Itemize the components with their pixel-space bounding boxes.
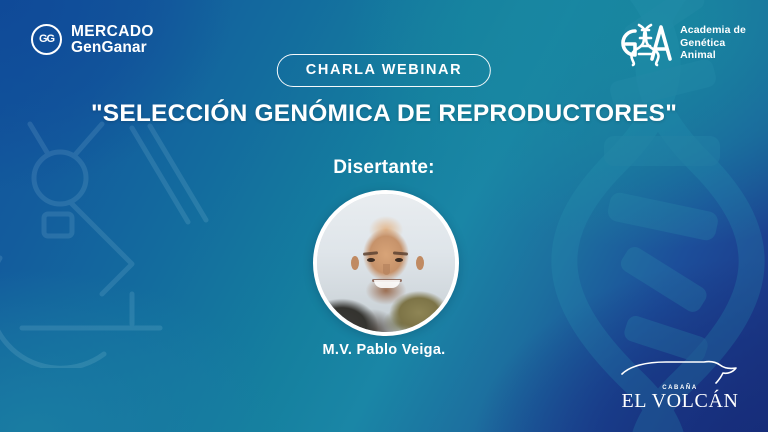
portrait-brow-right xyxy=(393,251,408,255)
webinar-slide: GG MERCADO GenGanar xyxy=(0,0,768,432)
gg-monogram-text: GG xyxy=(39,34,54,45)
speaker-section-label: Disertante: xyxy=(0,157,768,179)
brand-mercado-genganar-wordmark: MERCADO GenGanar xyxy=(71,24,154,56)
brand-academia-wordmark: Academia de Genética Animal xyxy=(680,24,746,62)
bull-silhouette-icon xyxy=(620,360,740,386)
microscope-icon xyxy=(0,118,222,368)
brand-mercado-genganar[interactable]: GG MERCADO GenGanar xyxy=(31,24,154,56)
brand-right-line1: Academia de xyxy=(680,24,746,37)
brand-academia-genetica-animal[interactable]: Academia de Genética Animal xyxy=(611,19,746,67)
portrait-brow-left xyxy=(363,251,378,256)
portrait-ear-left xyxy=(351,256,359,270)
speaker-avatar xyxy=(313,190,459,336)
portrait-nose xyxy=(383,264,390,275)
portrait-ear-right xyxy=(416,256,424,270)
brand-bottom-name: EL VOLCÁN xyxy=(621,391,738,412)
portrait-eye-left xyxy=(367,258,375,262)
brand-left-line1: MERCADO xyxy=(71,24,154,40)
brand-right-line3: Animal xyxy=(680,49,746,62)
brand-right-line2: Genética xyxy=(680,37,746,50)
speaker-name: M.V. Pablo Veiga. xyxy=(0,342,768,358)
portrait-eye-right xyxy=(395,258,403,262)
speaker-photo xyxy=(317,194,455,332)
brand-left-line2: GenGanar xyxy=(71,40,154,56)
gg-monogram-icon: GG xyxy=(31,24,62,55)
page-title: "SELECCIÓN GENÓMICA DE REPRODUCTORES" xyxy=(0,100,768,128)
charla-webinar-badge-label: CHARLA WEBINAR xyxy=(306,62,462,78)
charla-webinar-badge: CHARLA WEBINAR xyxy=(277,54,491,87)
ga-dna-monogram-icon xyxy=(611,19,673,67)
portrait-smile xyxy=(374,280,400,288)
brand-cabana-el-volcan[interactable]: CABAÑA EL VOLCÁN xyxy=(614,360,746,412)
